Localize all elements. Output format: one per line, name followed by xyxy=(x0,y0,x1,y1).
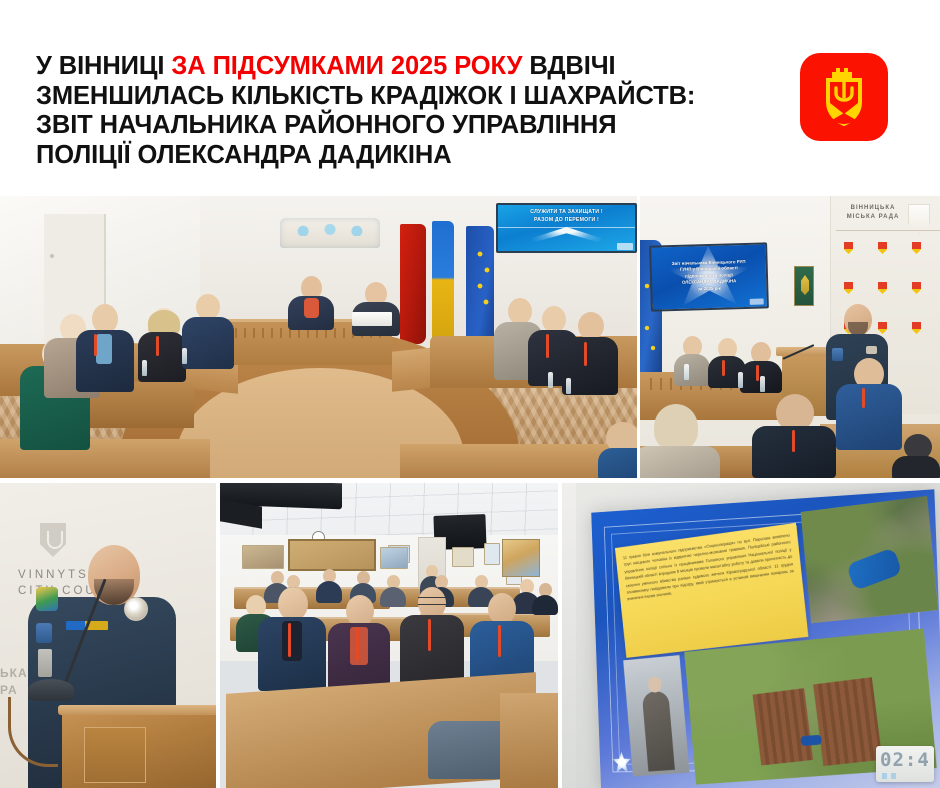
slogan-line-1: СЛУЖИТИ ТА ЗАХИЩАТИ ! xyxy=(498,209,635,217)
person-audience-right xyxy=(892,434,940,478)
presentation-screen-report-title: Звіт начальника Вінницького РУП ГУНП у В… xyxy=(649,242,769,311)
uniform-badge-icon xyxy=(124,597,148,621)
person-foreground xyxy=(598,422,637,478)
slide-photo-suspect xyxy=(623,655,689,776)
photo-audience-in-session-hall xyxy=(220,483,558,788)
slogan-line-2: РАЗОМ ДО ПЕРЕМОГИ ! xyxy=(498,217,635,225)
person-audience-blonde xyxy=(640,404,720,478)
vinnytsia-flag xyxy=(400,224,426,344)
person-chairman xyxy=(288,276,334,328)
bench-right xyxy=(500,693,558,788)
vinnytsia-coat-of-arms-icon xyxy=(800,53,888,141)
header-banner: У ВІННИЦІ ЗА ПІДСУМКАМИ 2025 РОКУ ВДВІЧІ… xyxy=(0,0,940,196)
photo-council-chamber-session: СЛУЖИТИ ТА ЗАХИЩАТИ ! РАЗОМ ДО ПЕРЕМОГИ … xyxy=(0,196,637,478)
headline-line-1: У ВІННИЦІ ЗА ПІДСУМКАМИ 2025 РОКУ ВДВІЧІ xyxy=(36,52,776,82)
person-front-2 xyxy=(328,595,390,691)
photo-collage: СЛУЖИТИ ТА ЗАХИЩАТИ ! РАЗОМ ДО ПЕРЕМОГИ … xyxy=(0,196,940,788)
person-front-1 xyxy=(258,587,326,689)
person-rear-9 xyxy=(532,583,558,613)
slide-photo-scene xyxy=(801,496,939,623)
headline-line-3: ЗВІТ НАЧАЛЬНИКА РАЙОННОГО УПРАВЛІННЯ xyxy=(36,111,776,141)
person-panel-1 xyxy=(674,336,710,384)
memorial-plaque xyxy=(794,266,814,306)
timer-value: 02:4 xyxy=(880,749,932,771)
wall-artwork xyxy=(288,539,376,571)
ukraine-flag xyxy=(432,221,454,349)
headline-line-4: ПОЛІЦІЇ ОЛЕКСАНДРА ДАДИКІНА xyxy=(36,141,776,171)
paper-stack xyxy=(352,312,392,326)
ceiling-ornament xyxy=(280,218,380,248)
projection-screen: 11 травня біля комунального підприємства… xyxy=(591,489,940,788)
photo-presentation-slide-projection: 11 травня біля комунального підприємства… xyxy=(562,483,940,788)
photo-officer-at-podium: VINNYTSIA CITY COUNCIL ЬКА РА xyxy=(0,483,216,788)
person-audience-front xyxy=(752,394,836,478)
person-front-3 xyxy=(400,587,464,687)
person-deputy xyxy=(352,282,400,334)
wall-brand-line-2: МІСЬКА РАДА xyxy=(838,213,908,222)
headline-highlight: ЗА ПІДСУМКАМИ 2025 РОКУ xyxy=(171,52,522,80)
wall-brand-vinnytsia-city-council: ВІННИЦЬКА МІСЬКА РАДА xyxy=(838,204,908,222)
headline-line-2: ЗМЕНШИЛАСЬ КІЛЬКІСТЬ КРАДІЖОК І ШАХРАЙСТ… xyxy=(36,82,776,112)
podium xyxy=(62,711,216,788)
countdown-timer: 02:4 xyxy=(876,746,934,782)
wall-map xyxy=(502,539,540,577)
page-title: У ВІННИЦІ ЗА ПІДСУМКАМИ 2025 РОКУ ВДВІЧІ… xyxy=(36,52,776,170)
wall-brand-line-1: ВІННИЦЬКА xyxy=(838,204,908,213)
photo-police-chief-presenting: ВІННИЦЬКА МІСЬКА РАДА Звіт начальника Ві… xyxy=(640,196,940,478)
headline-segment: У ВІННИЦІ xyxy=(36,52,171,80)
headline-segment: ВДВІЧІ xyxy=(522,52,615,80)
person-seated-left-5 xyxy=(182,294,234,366)
slide-text-card: 11 травня біля комунального підприємства… xyxy=(615,523,808,658)
person-seated-left-3 xyxy=(76,304,134,390)
uniform-shoulder-patch xyxy=(36,587,58,611)
wall-monitor-slogan: СЛУЖИТИ ТА ЗАХИЩАТИ ! РАЗОМ ДО ПЕРЕМОГИ … xyxy=(496,203,637,253)
